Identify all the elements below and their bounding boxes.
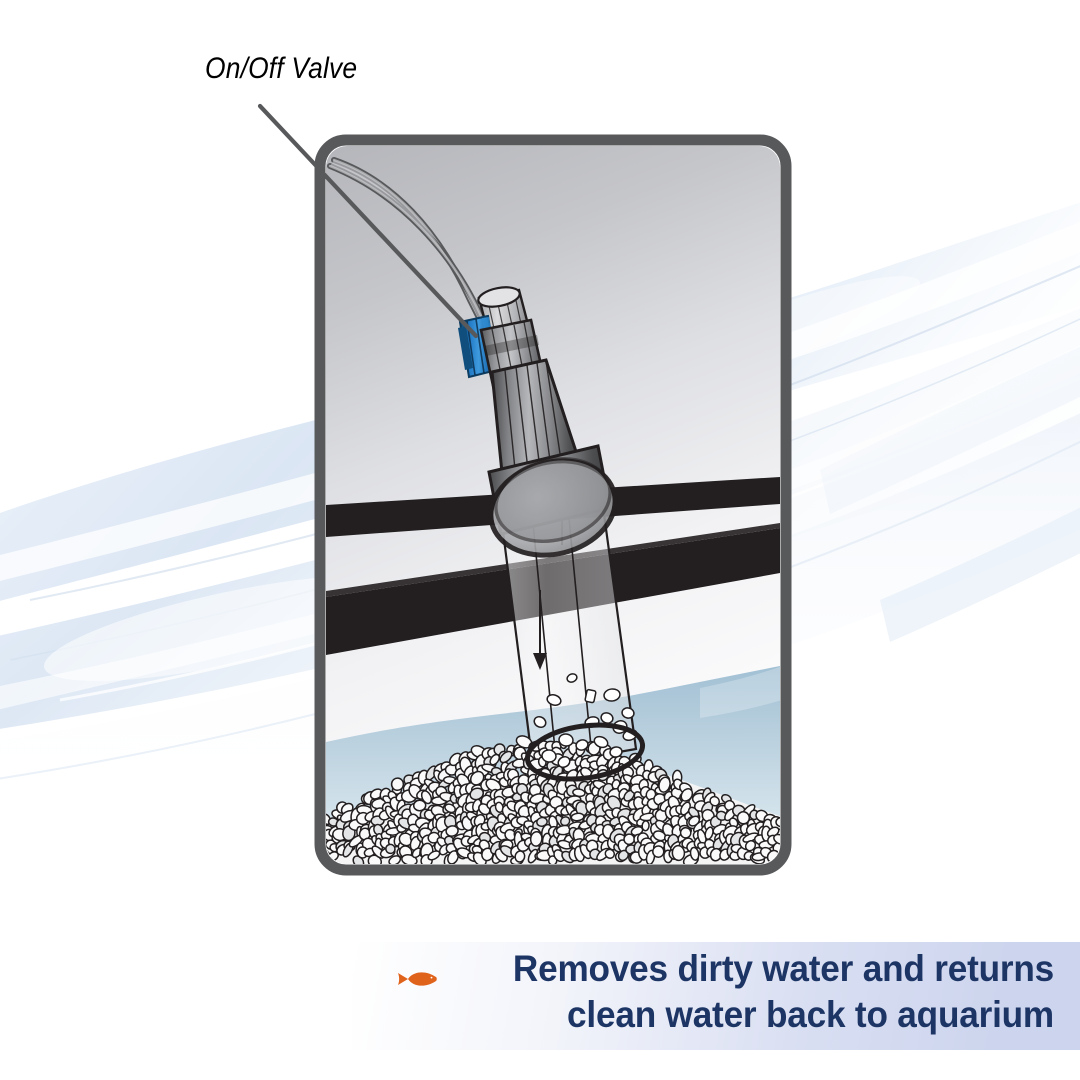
caption-text: Removes dirty water and returns clean wa… bbox=[352, 946, 1068, 1038]
caption-line-1: Removes dirty water and returns bbox=[387, 946, 1054, 992]
illustration-canvas: On/Off Valve Removes dirty water and ret… bbox=[0, 0, 1080, 1080]
aquarium-tank bbox=[319, 140, 789, 870]
caption-line-2: clean water back to aquarium bbox=[387, 992, 1054, 1038]
background-water-wave bbox=[0, 0, 1080, 1080]
callout-label-on-off-valve: On/Off Valve bbox=[205, 54, 357, 84]
